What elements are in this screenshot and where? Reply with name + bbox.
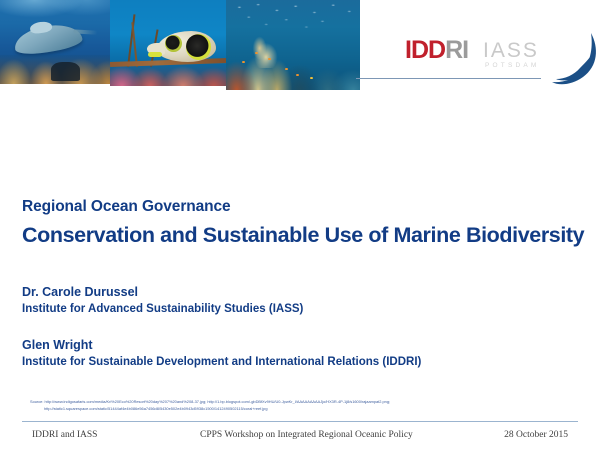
footer-date: 28 October 2015 <box>504 430 568 440</box>
iddri-logo-red-text: IDD <box>405 36 445 64</box>
reef-fish <box>296 74 299 76</box>
pufferfish-photo <box>110 0 228 86</box>
iddri-logo: IDDRI <box>405 38 468 63</box>
author-entry: Dr. Carole Durussel Institute for Advanc… <box>22 283 421 318</box>
author-entry: Glen Wright Institute for Sustainable De… <box>22 336 421 371</box>
reef-foreground <box>110 64 228 86</box>
iddri-logo-grey-text: RI <box>445 36 468 64</box>
footer-event-name: CPPS Workshop on Integrated Regional Oce… <box>200 430 413 440</box>
underwater-background <box>110 0 228 86</box>
author-name: Dr. Carole Durussel <box>22 283 421 301</box>
source-credit-line: http://static1.squarespace.com/static/51… <box>44 406 575 413</box>
manta-ray-photo <box>0 0 115 84</box>
author-affiliation: Institute for Advanced Sustainability St… <box>22 301 421 318</box>
slide-subtitle: Regional Ocean Governance <box>22 198 231 216</box>
dark-rock <box>51 62 81 80</box>
author-affiliation: Institute for Sustainable Development an… <box>22 354 421 371</box>
iass-logo-subtext: POTSDAM <box>485 63 540 70</box>
organisation-logos: IDDRI IASS POTSDAM <box>405 32 595 90</box>
source-credit-line: Source: http://www.indigosafaris.com/med… <box>30 399 575 406</box>
sea-fan <box>250 32 282 68</box>
underwater-background <box>226 0 360 90</box>
author-list: Dr. Carole Durussel Institute for Advanc… <box>22 283 421 389</box>
coral-reef-photo <box>226 0 360 90</box>
slide-title: Conservation and Sustainable Use of Mari… <box>22 223 584 248</box>
pufferfish-lip <box>148 52 162 56</box>
author-name: Glen Wright <box>22 336 421 354</box>
iass-logo: IASS POTSDAM <box>483 40 540 70</box>
iass-logo-text: IASS <box>483 40 540 61</box>
image-source-credits: Source: http://www.indigosafaris.com/med… <box>30 399 575 413</box>
footer-divider <box>22 421 578 422</box>
wave-swoosh-icon <box>550 32 600 88</box>
slide-footer: IDDRI and IASS CPPS Workshop on Integrat… <box>22 427 578 447</box>
underwater-background <box>0 0 115 84</box>
footer-organisations: IDDRI and IASS <box>32 430 97 440</box>
coral-formation <box>226 40 360 90</box>
